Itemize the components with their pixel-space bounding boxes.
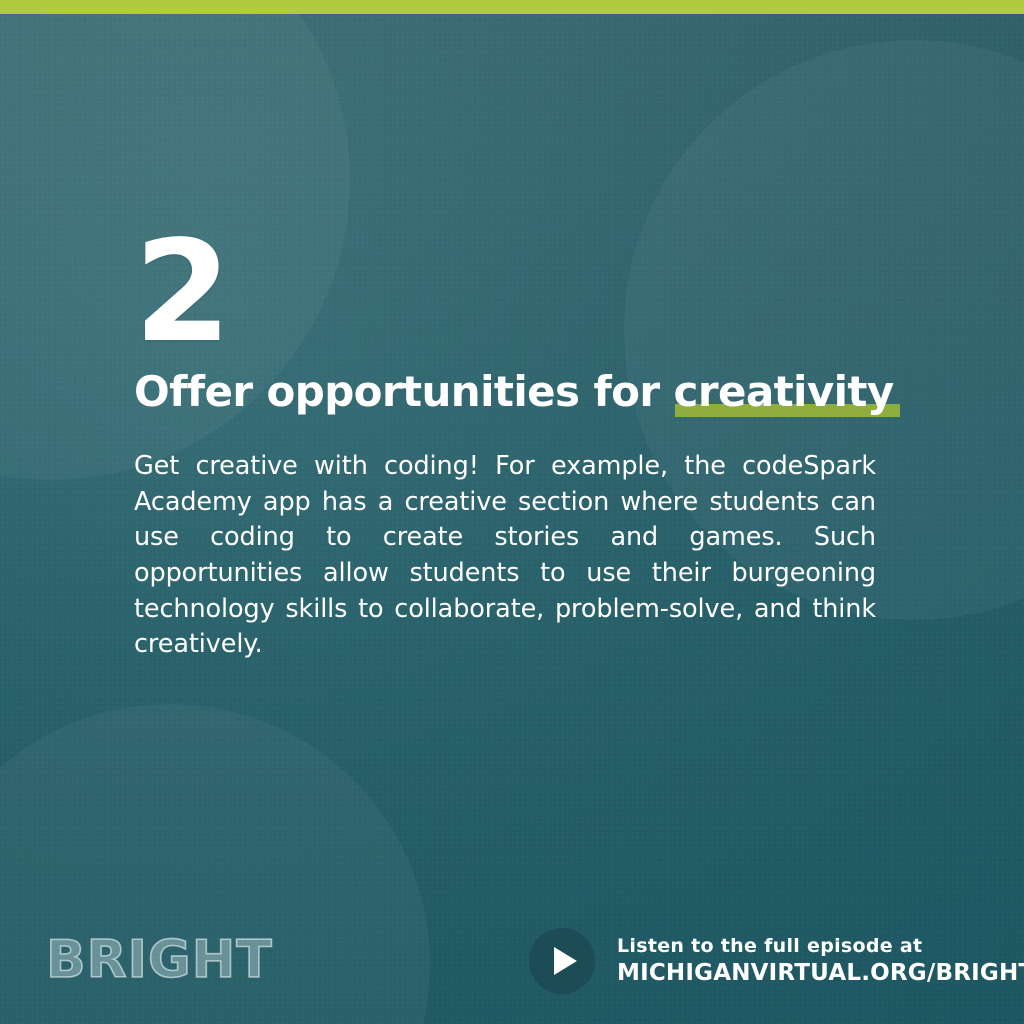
step-number: 2 xyxy=(134,236,876,351)
listen-url[interactable]: MICHIGANVIRTUAL.ORG/BRIGHT xyxy=(617,959,1024,988)
body-paragraph: Get creative with coding! For example, t… xyxy=(134,449,876,663)
headline-highlight: creativity xyxy=(674,369,894,415)
bright-logo: BRIGHT xyxy=(46,934,273,986)
headline-prefix: Offer opportunities for xyxy=(134,367,674,416)
footer: BRIGHT Listen to the full episode at MIC… xyxy=(0,894,1024,1024)
listen-text-group: Listen to the full episode at MICHIGANVI… xyxy=(617,935,1024,988)
play-icon[interactable] xyxy=(529,928,595,994)
slide-canvas: 2 Offer opportunities for creativity Get… xyxy=(0,0,1024,1024)
headline: Offer opportunities for creativity xyxy=(134,369,876,415)
listen-cta[interactable]: Listen to the full episode at MICHIGANVI… xyxy=(529,928,1024,994)
listen-prompt: Listen to the full episode at xyxy=(617,935,1024,959)
top-accent-bar xyxy=(0,0,1024,14)
content-block: 2 Offer opportunities for creativity Get… xyxy=(134,236,876,663)
play-triangle-shape xyxy=(554,947,577,975)
